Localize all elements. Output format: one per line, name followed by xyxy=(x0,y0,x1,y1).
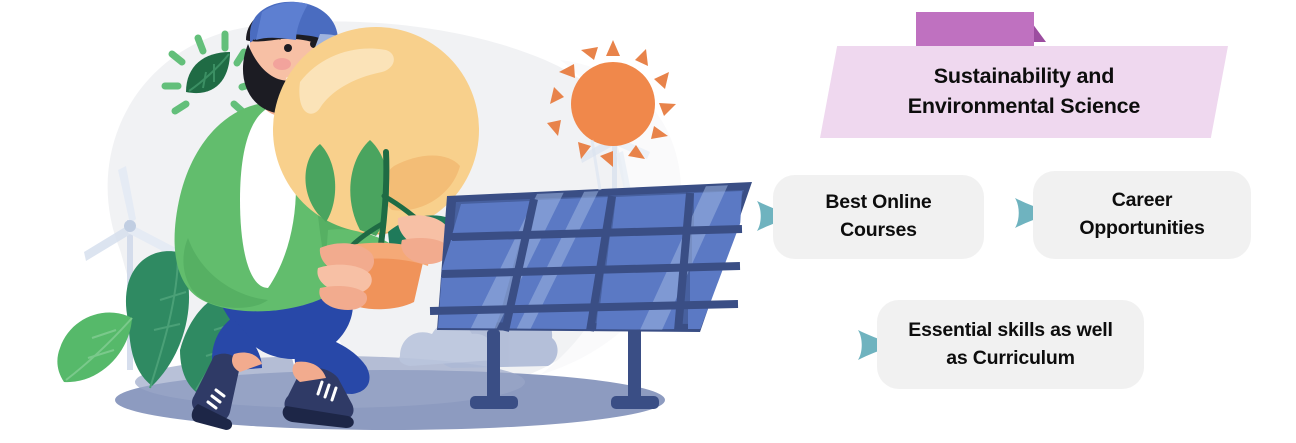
card-1-line-2: Courses xyxy=(825,217,931,245)
banner-title-line-1: Sustainability and xyxy=(934,62,1114,92)
card-1-line-1: Best Online xyxy=(825,189,931,217)
card-career-opportunities[interactable]: Career Opportunities xyxy=(1033,171,1251,259)
card-2-line-1: Career xyxy=(1079,187,1204,215)
card-best-online-courses[interactable]: Best Online Courses xyxy=(773,175,984,259)
content-panel: Sustainability and Environmental Science… xyxy=(760,0,1296,443)
title-banner: Sustainability and Environmental Science xyxy=(820,12,1240,142)
infographic-canvas: Sustainability and Environmental Science… xyxy=(0,0,1296,443)
card-2-line-2: Opportunities xyxy=(1079,215,1204,243)
illustration-man-holding-plant-in-lightbulb xyxy=(0,0,760,443)
banner-title-line-2: Environmental Science xyxy=(908,92,1140,122)
card-3-line-1: Essential skills as well xyxy=(908,317,1112,345)
card-3-line-2: as Curriculum xyxy=(908,345,1112,373)
card-essential-skills[interactable]: Essential skills as well as Curriculum xyxy=(877,300,1144,389)
banner-title: Sustainability and Environmental Science xyxy=(820,46,1228,138)
